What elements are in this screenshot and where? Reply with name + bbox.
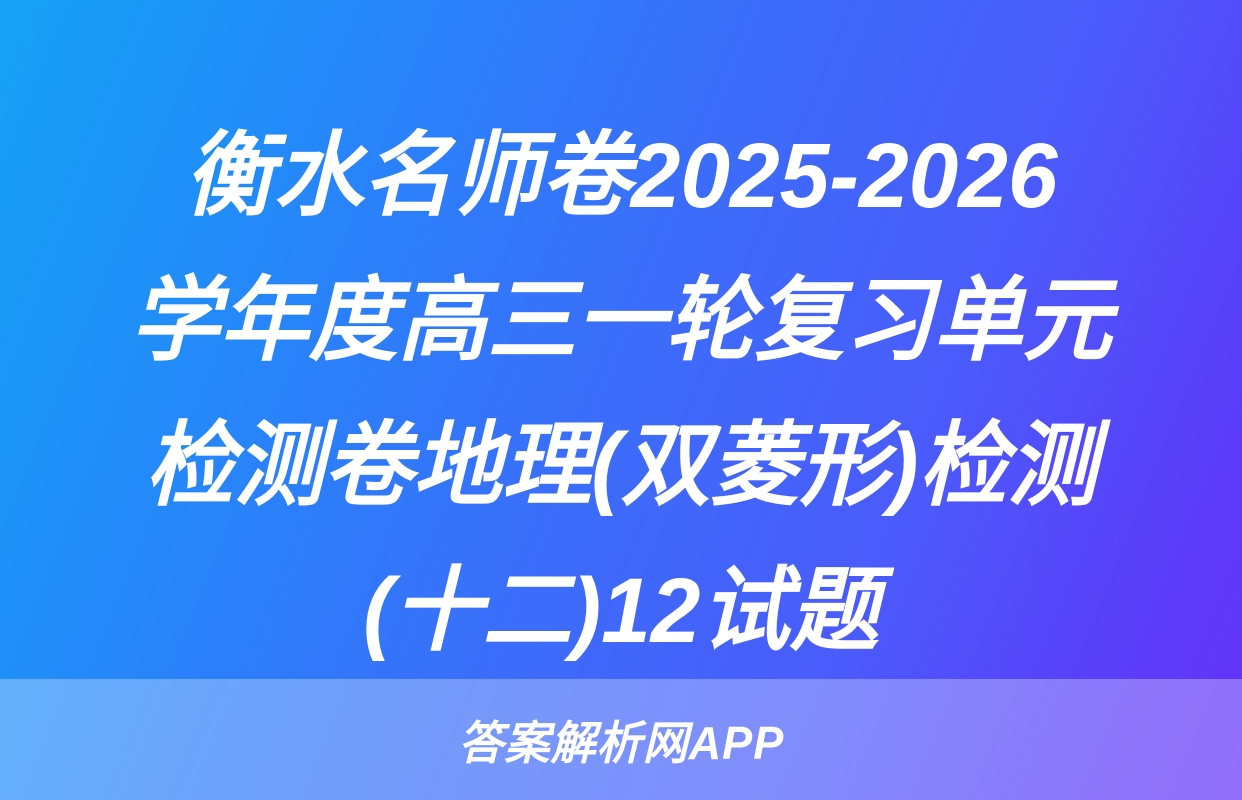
footer-brand-band: 答案解析网APP <box>0 679 1242 800</box>
title-line-3: 检测卷地理(双菱形)检测 <box>19 394 1224 539</box>
title-line-4: (十二)12试题 <box>19 539 1224 684</box>
title-line-2: 学年度高三一轮复习单元 <box>19 249 1224 394</box>
title-line-1: 衡水名师卷2025-2026 <box>19 104 1224 249</box>
poster-canvas: 衡水名师卷2025-2026 学年度高三一轮复习单元 检测卷地理(双菱形)检测 … <box>0 0 1242 800</box>
brand-label: 答案解析网APP <box>458 707 784 773</box>
page-title: 衡水名师卷2025-2026 学年度高三一轮复习单元 检测卷地理(双菱形)检测 … <box>0 104 1242 684</box>
